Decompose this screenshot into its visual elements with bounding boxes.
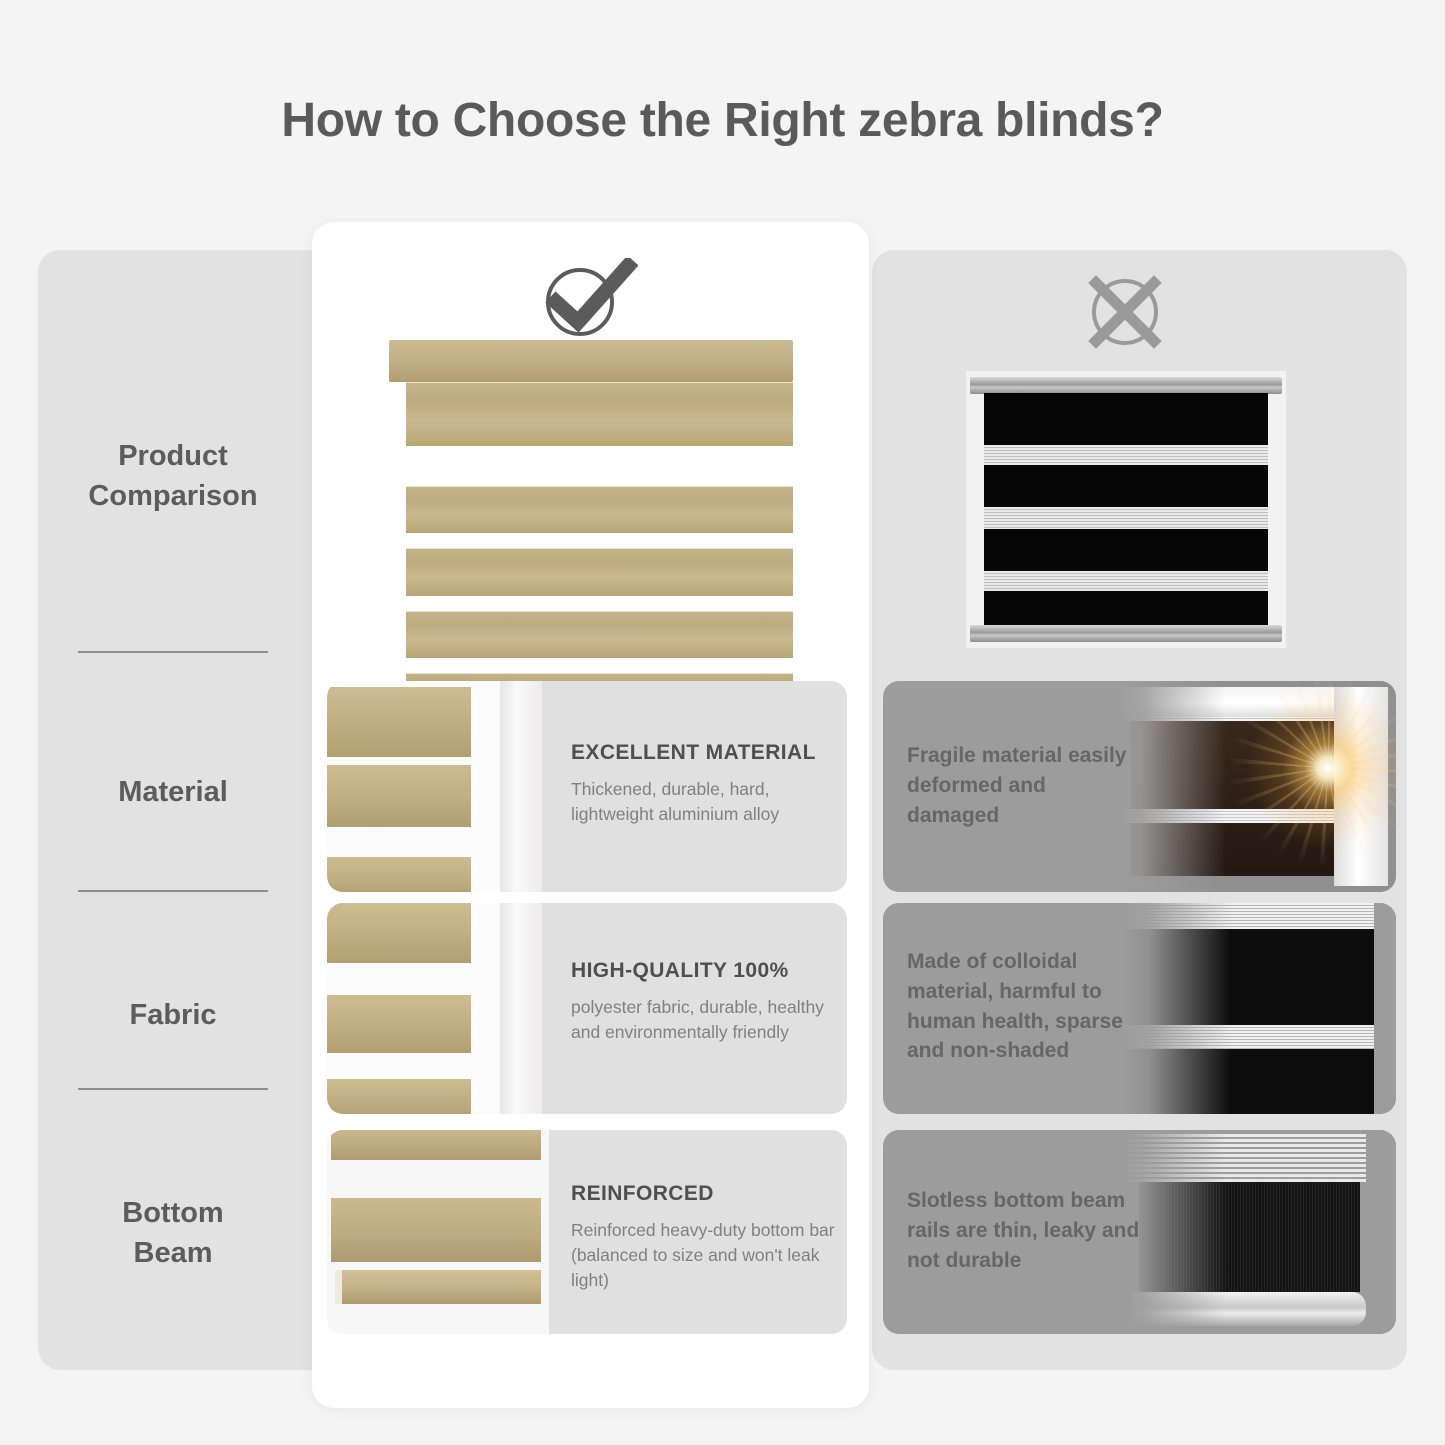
sidebar-item-product-comparison: Product Comparison [48,436,298,516]
card-image-reinforced-bottom-bar [327,1130,549,1334]
blind-band-sheer [984,445,1268,465]
feature-body: Thickened, durable, hard, lightweight al… [571,777,831,827]
sidebar-label-line1: Product [48,436,298,476]
sidebar-divider-2 [78,890,268,892]
blind-band-sheer [984,571,1268,591]
blind-slat [406,548,793,596]
card-image-tan-fabric-closeup [327,903,542,1114]
card-image-black-fabric-closeup [1121,903,1396,1114]
feature-card-good-material: EXCELLENT MATERIAL Thickened, durable, h… [327,681,847,892]
blind-headrail [970,377,1282,394]
feature-card-good-bottom-beam: REINFORCED Reinforced heavy-duty bottom … [327,1130,847,1334]
feature-text: Slotless bottom beam rails are thin, lea… [907,1186,1142,1275]
sidebar-item-fabric: Fabric [48,995,298,1035]
sidebar-label-line1: Material [48,772,298,812]
blind-headrail [389,340,793,382]
card-image-tan-blind-closeup [327,681,542,892]
card-image-slotless-bottom-rail [1113,1130,1396,1334]
feature-card-bad-fabric: Made of colloidal material, harmful to h… [883,903,1396,1114]
blind-band-dark [984,591,1268,627]
sidebar-divider-3 [78,1088,268,1090]
x-circle-icon [1085,272,1165,357]
hero-image-black-zebra-blind [966,371,1286,648]
blind-band-dark [984,465,1268,507]
feature-text: Fragile material easily deformed and dam… [907,741,1137,830]
sidebar-label-line2: Beam [48,1233,298,1273]
blind-band-dark [984,393,1268,445]
blind-band-sheer [984,507,1268,529]
feature-title: HIGH-QUALITY 100% [571,959,836,983]
sidebar-item-material: Material [48,772,298,812]
feature-title: EXCELLENT MATERIAL [571,741,831,765]
blind-slat [406,382,793,446]
feature-body: polyester fabric, durable, healthy and e… [571,995,836,1045]
blind-band-dark [984,529,1268,571]
hero-image-tan-zebra-blind [389,340,793,667]
feature-card-bad-bottom-beam: Slotless bottom beam rails are thin, lea… [883,1130,1396,1334]
blind-slat [406,611,793,658]
page-title: How to Choose the Right zebra blinds? [0,93,1445,148]
infographic-root: How to Choose the Right zebra blinds? Pr… [0,0,1445,1445]
check-circle-icon [538,258,638,345]
sidebar-label-line1: Bottom [48,1193,298,1233]
card-image-light-leak [1113,681,1396,892]
blind-slat [406,486,793,533]
feature-text: Made of colloidal material, harmful to h… [907,947,1142,1066]
sidebar-label-line1: Fabric [48,995,298,1035]
feature-body: Reinforced heavy-duty bottom bar (balanc… [571,1218,836,1293]
sidebar-divider-1 [78,651,268,653]
sidebar-item-bottom-beam: Bottom Beam [48,1193,298,1273]
feature-card-bad-material: Fragile material easily deformed and dam… [883,681,1396,892]
feature-card-good-fabric: HIGH-QUALITY 100% polyester fabric, dura… [327,903,847,1114]
feature-title: REINFORCED [571,1182,836,1206]
sidebar-label-line2: Comparison [48,476,298,516]
blind-bottom-rail [970,625,1282,642]
